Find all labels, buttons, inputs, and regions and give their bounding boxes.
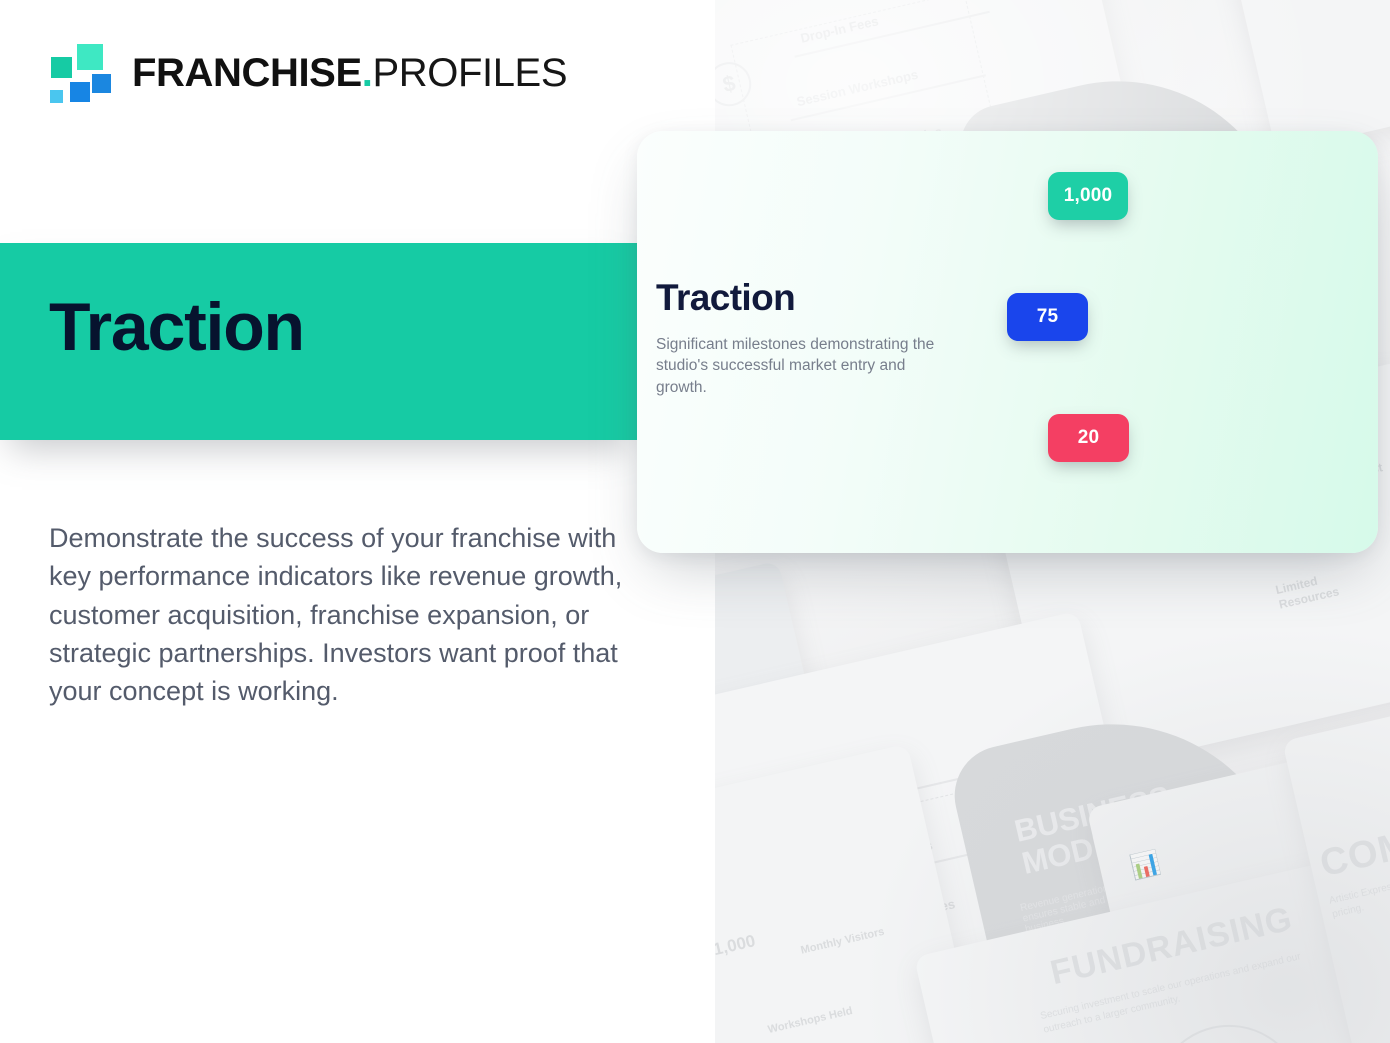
- page-title: Traction: [49, 293, 304, 361]
- metric-badge-workshops-held: 75: [1007, 293, 1088, 341]
- card-description: Significant milestones demonstrating the…: [656, 334, 956, 398]
- metric-workshops-held: Workshops Held 75: [1007, 293, 1337, 394]
- metric-badge-monthly-visitors: 1,000: [1048, 172, 1128, 220]
- brand-wordmark: FRANCHISE.PROFILES: [132, 53, 567, 93]
- metric-badge-community-partnerships: 20: [1048, 414, 1129, 462]
- section-description: Demonstrate the success of your franchis…: [49, 519, 624, 711]
- square-cyan-small: [50, 90, 63, 103]
- square-blue-right: [92, 74, 111, 93]
- square-mint-top: [77, 44, 103, 70]
- square-blue-mid: [70, 82, 90, 102]
- metric-community-partnerships: Community Partnerships 20: [1048, 414, 1378, 515]
- brand-name-bold: FRANCHISE: [132, 51, 362, 95]
- square-teal-left: [51, 57, 72, 78]
- logo-squares-icon: [48, 44, 110, 102]
- slide-canvas: $ Drop-In Fees Session Workshops Commiss…: [0, 0, 1390, 1043]
- traction-preview-card: Traction Significant milestones demonstr…: [637, 131, 1378, 553]
- metric-monthly-visitors: Monthly Visitors 1,000: [1048, 172, 1378, 273]
- brand-name-dot: .: [362, 51, 373, 95]
- card-heading-block: Traction Significant milestones demonstr…: [656, 279, 986, 398]
- brand-name-thin: PROFILES: [372, 51, 567, 95]
- section-banner: Traction: [0, 243, 637, 440]
- card-title: Traction: [656, 279, 986, 316]
- brand-logo: FRANCHISE.PROFILES: [48, 44, 567, 102]
